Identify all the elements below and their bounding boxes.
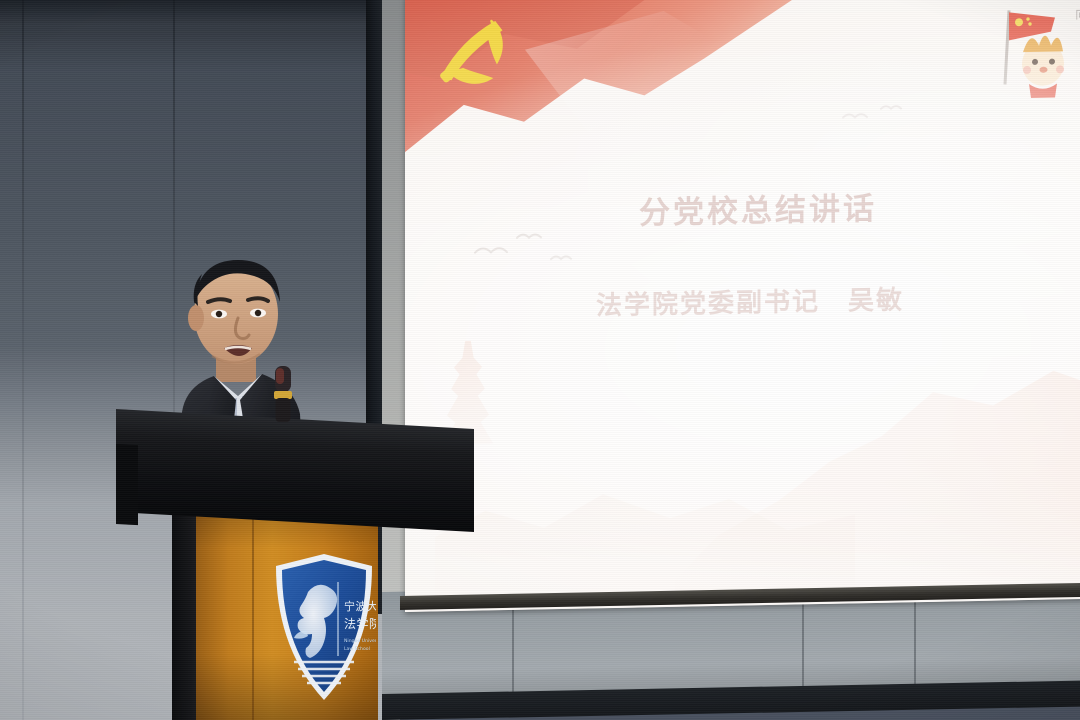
mascot-with-flag-icon	[983, 0, 1079, 101]
handheld-microphone-icon	[266, 362, 300, 424]
podium-column-seam	[252, 500, 254, 720]
photo-stage: 向	[0, 0, 1080, 720]
svg-text:Ningbo University: Ningbo University	[344, 638, 376, 644]
svg-text:宁波大学: 宁波大学	[344, 599, 376, 613]
university-crest: 宁波大学 法学院 Ningbo University Law School	[272, 552, 376, 702]
slide-surface: 向	[405, 0, 1080, 612]
podium-left-edge	[116, 444, 138, 525]
birds-icon	[465, 224, 605, 287]
birds-icon-secondary	[835, 96, 925, 138]
projection-screen: 向	[405, 0, 1080, 612]
wall-panel-seam	[22, 0, 24, 720]
podium-side-shadow	[172, 500, 198, 720]
mascot-side-text: 向	[1070, 7, 1080, 23]
svg-text:Law School: Law School	[344, 646, 370, 652]
svg-text:法学院: 法学院	[344, 616, 376, 631]
wall-top-shadow	[0, 0, 400, 42]
hammer-and-sickle-icon	[433, 12, 511, 95]
